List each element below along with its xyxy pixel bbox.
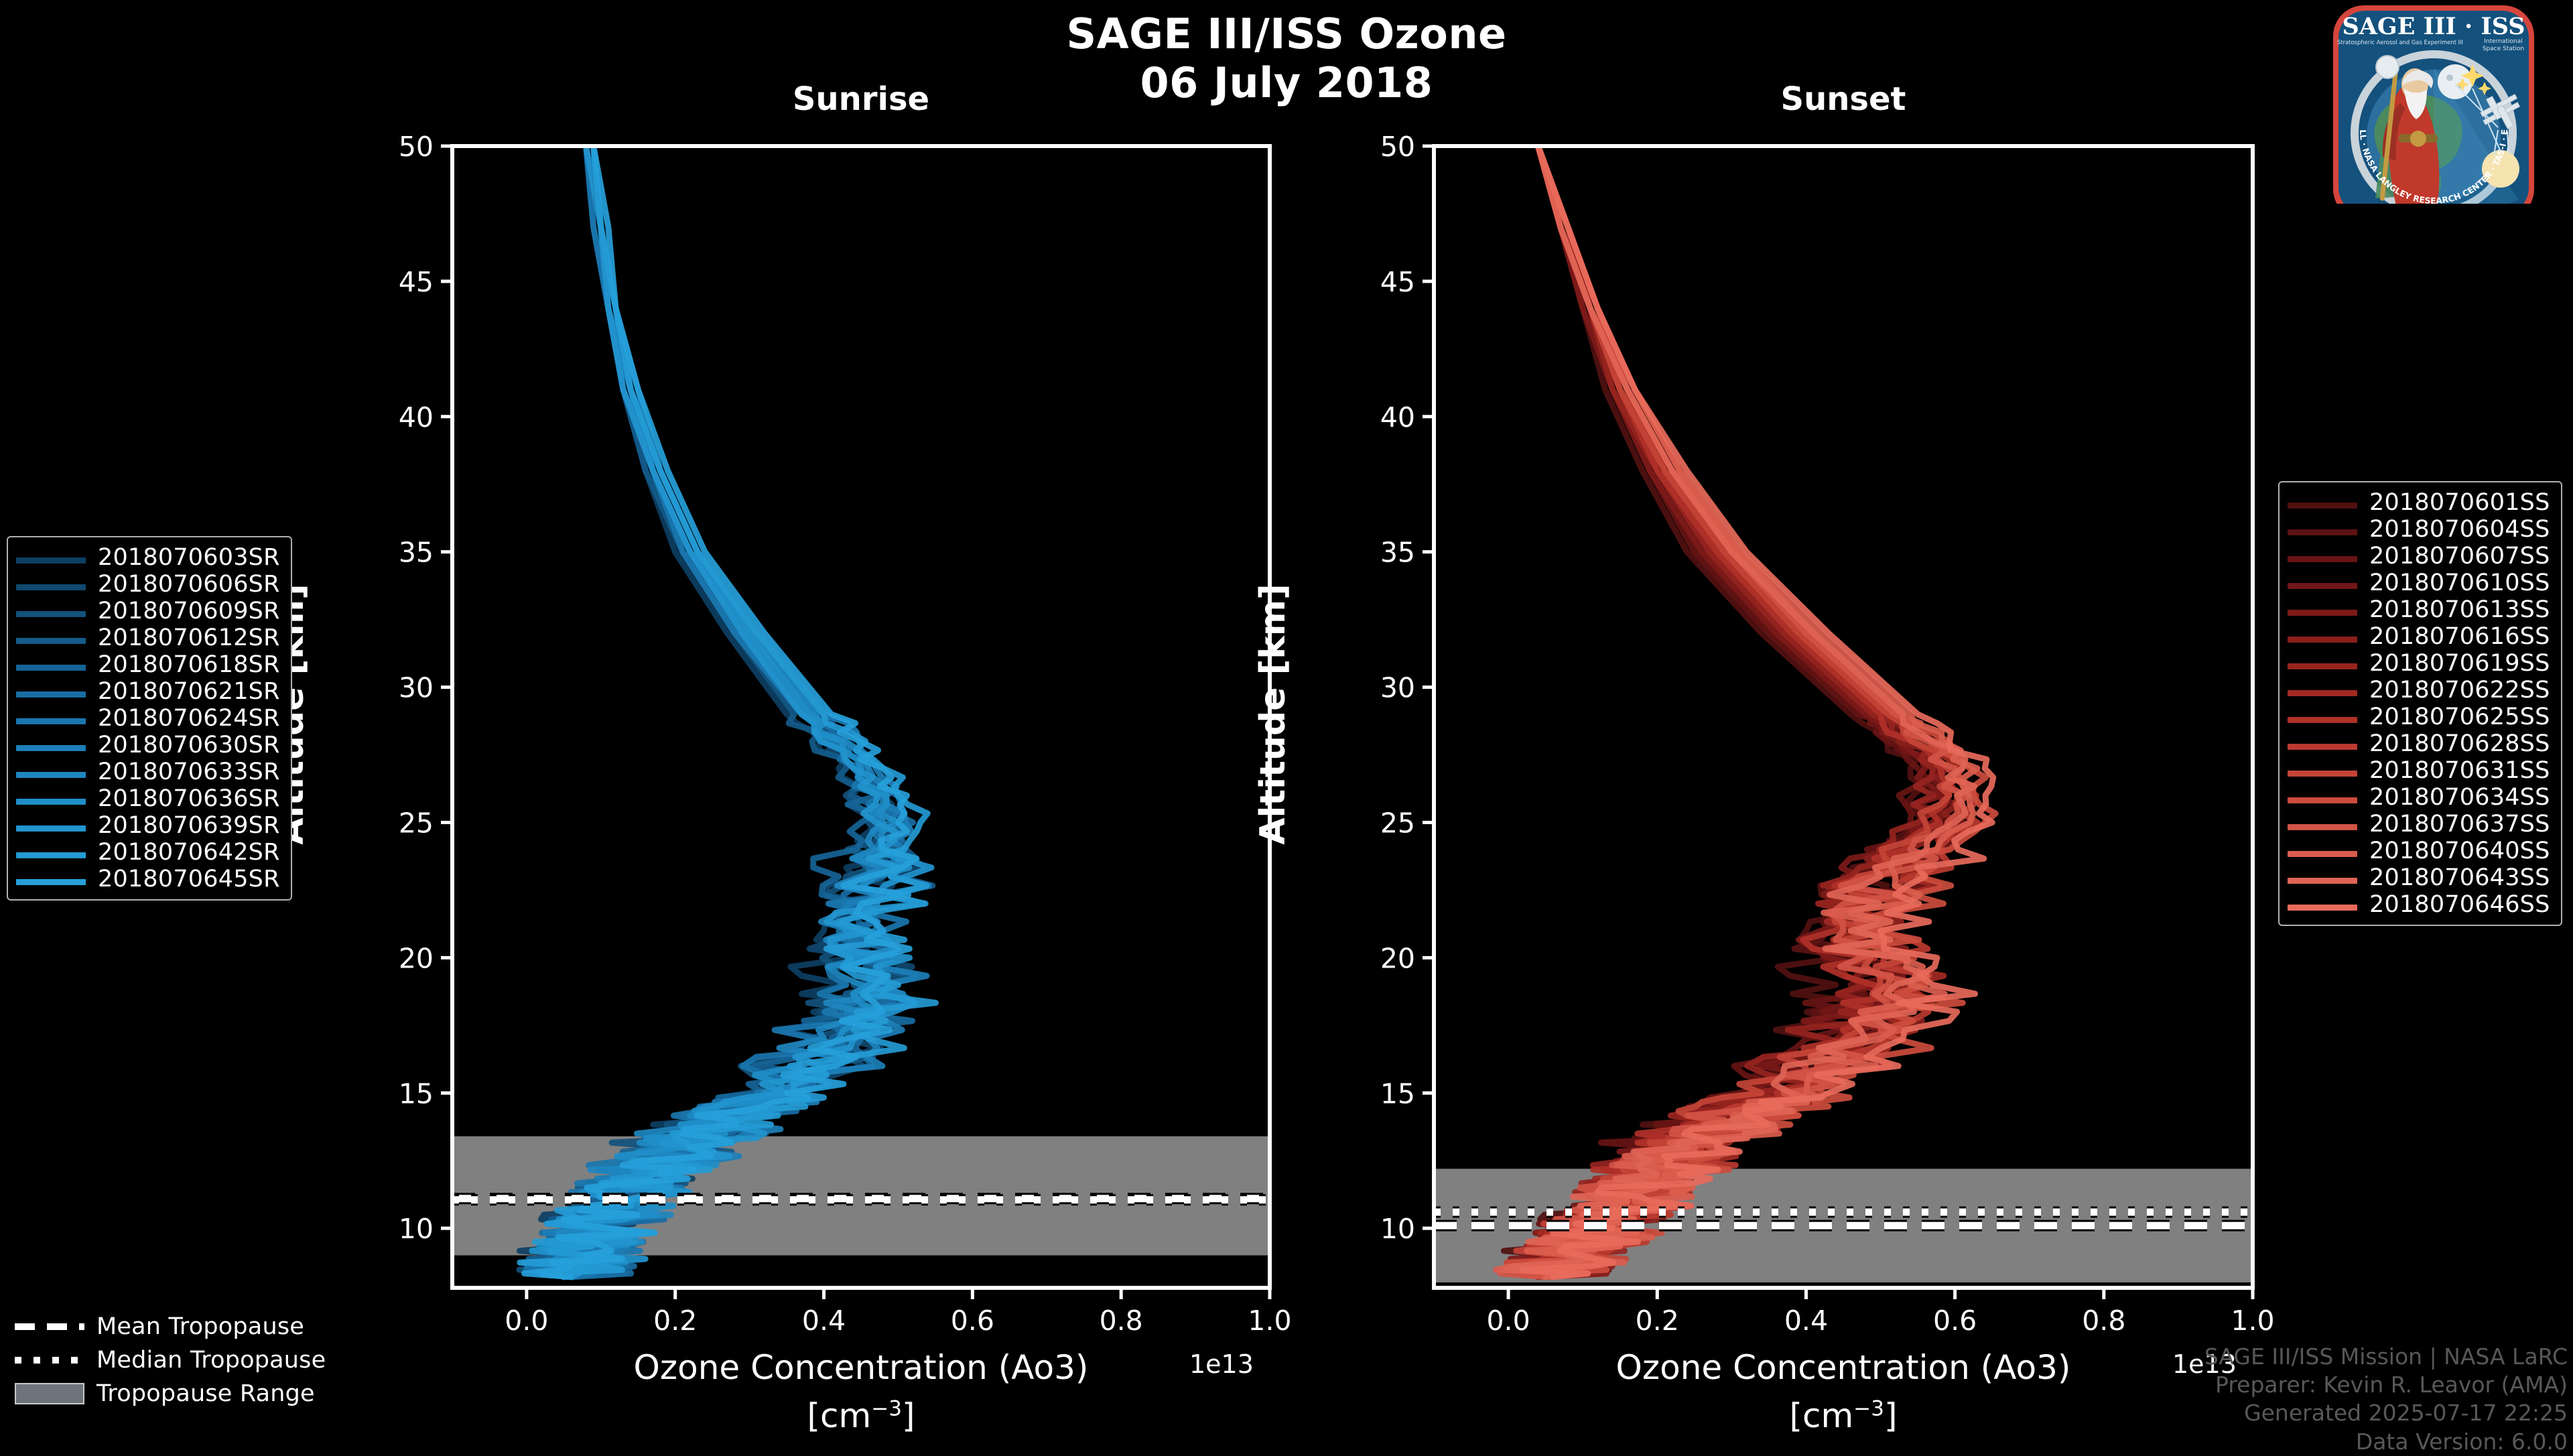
x-tick-label: 0.6: [1933, 1305, 1977, 1337]
ozone-profile-line: [520, 146, 936, 1277]
legend-tropopause[interactable]: Mean TropopauseMedian TropopauseTropopau…: [15, 1310, 326, 1410]
ozone-profile-line: [525, 146, 917, 1277]
y-tick-label: 25: [399, 807, 434, 839]
credits-block: SAGE III/ISS Mission | NASA LaRC Prepare…: [2204, 1343, 2568, 1456]
legend-item-label: 2018070613SS: [2369, 596, 2550, 623]
ozone-profile-line: [1535, 146, 1963, 1277]
legend-item-2018070625ss[interactable]: 2018070625SS: [2288, 704, 2550, 730]
x-tick-label: 0.6: [951, 1305, 994, 1337]
legend-item-2018070603sr[interactable]: 2018070603SR: [16, 544, 280, 571]
x-axis-unit: [cm−3]: [452, 1396, 1270, 1435]
legend-item-2018070628ss[interactable]: 2018070628SS: [2288, 730, 2550, 757]
x-tick-label: 0.8: [2082, 1305, 2125, 1337]
panel-title-sunset: Sunset: [1434, 80, 2253, 118]
logo-subtitle-left: Stratospheric Aerosol and Gas Experiment…: [2337, 39, 2463, 46]
y-tick-label: 50: [1380, 131, 1415, 163]
x-tick-label: 0.2: [1636, 1305, 1679, 1337]
x-tick-label: 0.8: [1100, 1305, 1143, 1337]
y-tick-label: 20: [1380, 942, 1415, 974]
y-axis-title-sunset: Altitude [km]: [1253, 500, 1293, 929]
y-tick-label: 20: [399, 942, 434, 974]
legend-item-label: 2018070604SS: [2369, 516, 2550, 543]
ozone-profile-line: [525, 146, 909, 1277]
legend-item-2018070646ss[interactable]: 2018070646SS: [2288, 891, 2550, 918]
legend-item-label: 2018070643SS: [2369, 864, 2550, 891]
legend-item-label: 2018070631SS: [2369, 757, 2550, 784]
x-axis-unit-sup: −3: [1853, 1396, 1884, 1420]
axis-frame: [452, 146, 1270, 1288]
tropopause-range-swatch: [15, 1383, 84, 1404]
credits-generated: Generated 2025-07-17 22:25: [2204, 1399, 2568, 1427]
legend-item-2018070643ss[interactable]: 2018070643SS: [2288, 864, 2550, 891]
y-tick-label: 35: [399, 537, 434, 569]
legend-item-band[interactable]: Tropopause Range: [15, 1377, 326, 1410]
x-axis-title-line1: Ozone Concentration (Ao3): [452, 1348, 1270, 1387]
y-tick-label: 40: [1380, 401, 1415, 434]
ozone-profile-line: [1508, 146, 1971, 1277]
x-tick-label: 0.2: [653, 1305, 697, 1337]
x-axis-unit-pre: [cm: [807, 1396, 872, 1435]
legend-item-dashed[interactable]: Mean Tropopause: [15, 1310, 326, 1343]
credits-mission: SAGE III/ISS Mission | NASA LaRC: [2204, 1343, 2568, 1371]
ozone-profile-line: [520, 146, 893, 1277]
legend-item-label: 2018070610SS: [2369, 570, 2550, 596]
mission-patch-svg: SAGE III · ISS Stratospheric Aerosol and…: [2300, 3, 2568, 204]
legend-item-2018070621sr[interactable]: 2018070621SR: [16, 678, 280, 705]
legend-item-2018070642sr[interactable]: 2018070642SR: [16, 839, 280, 866]
ozone-profile-line: [526, 146, 913, 1277]
axis-frame: [1434, 146, 2253, 1288]
legend-item-2018070618sr[interactable]: 2018070618SR: [16, 651, 280, 678]
ozone-profile-line: [529, 146, 898, 1277]
legend-item-2018070637ss[interactable]: 2018070637SS: [2288, 811, 2550, 838]
y-tick-label: 30: [399, 672, 434, 704]
legend-item-label: 2018070630SR: [98, 732, 280, 758]
legend-item-2018070619ss[interactable]: 2018070619SS: [2288, 650, 2550, 677]
ozone-profile-line: [546, 146, 933, 1277]
tropopause-range-band: [452, 1136, 1270, 1256]
ozone-profile-line: [1528, 146, 1949, 1277]
ozone-profile-line: [535, 146, 910, 1277]
legend-item-2018070610ss[interactable]: 2018070610SS: [2288, 570, 2550, 596]
ozone-profile-line: [519, 146, 903, 1277]
y-tick-label: 45: [1380, 266, 1415, 298]
legend-item-2018070616ss[interactable]: 2018070616SS: [2288, 623, 2550, 650]
legend-item-2018070634ss[interactable]: 2018070634SS: [2288, 784, 2550, 811]
legend-item-2018070640ss[interactable]: 2018070640SS: [2288, 838, 2550, 864]
y-tick-label: 10: [1380, 1213, 1415, 1245]
legend-item-2018070606sr[interactable]: 2018070606SR: [16, 571, 280, 598]
legend-item-2018070612sr[interactable]: 2018070612SR: [16, 624, 280, 651]
legend-item-label: Tropopause Range: [96, 1380, 315, 1407]
legend-item-2018070630sr[interactable]: 2018070630SR: [16, 732, 280, 758]
legend-item-2018070624sr[interactable]: 2018070624SR: [16, 705, 280, 732]
x-tick-label: 0.4: [1784, 1305, 1828, 1337]
x-tick-label: 1.0: [2231, 1305, 2274, 1337]
legend-item-2018070645sr[interactable]: 2018070645SR: [16, 866, 280, 892]
tropopause-range-band: [1434, 1169, 2253, 1282]
ozone-profile-line: [1507, 146, 1934, 1277]
ozone-profile-line: [1510, 146, 1945, 1277]
legend-item-dotted[interactable]: Median Tropopause: [15, 1343, 326, 1377]
x-tick-label: 1.0: [1248, 1305, 1291, 1337]
legend-item-label: 2018070606SR: [98, 571, 280, 598]
legend-item-2018070613ss[interactable]: 2018070613SS: [2288, 596, 2550, 623]
ozone-profile-line: [1522, 146, 1993, 1277]
logo-subtitle-right-1: International: [2484, 38, 2522, 45]
x-axis-title-sunset: Ozone Concentration (Ao3) [cm−3]: [1434, 1348, 2253, 1435]
x-axis-title-sunrise: Ozone Concentration (Ao3) [cm−3]: [452, 1348, 1270, 1435]
legend-item-label: 2018070619SS: [2369, 650, 2550, 677]
legend-item-label: Median Tropopause: [96, 1347, 326, 1374]
legend-item-label: 2018070612SR: [98, 624, 280, 651]
legend-item-2018070639sr[interactable]: 2018070639SR: [16, 812, 280, 839]
y-tick-label: 35: [1380, 537, 1415, 569]
ozone-profile-line: [1518, 146, 1952, 1277]
legend-item-label: 2018070625SS: [2369, 704, 2550, 730]
y-tick-label: 50: [399, 131, 434, 163]
legend-item-label: 2018070621SR: [98, 678, 280, 705]
figure-title-line1: SAGE III/ISS Ozone: [0, 9, 2573, 58]
legend-item-label: 2018070634SS: [2369, 784, 2550, 811]
x-axis-unit-sup: −3: [871, 1396, 902, 1420]
legend-item-label: 2018070601SS: [2369, 489, 2550, 516]
ozone-profile-line: [1516, 146, 1959, 1277]
ozone-profile-line: [1506, 146, 1995, 1277]
legend-item-2018070607ss[interactable]: 2018070607SS: [2288, 543, 2550, 570]
legend-item-label: Mean Tropopause: [96, 1313, 304, 1340]
legend-item-2018070636sr[interactable]: 2018070636SR: [16, 785, 280, 812]
dashed-line-swatch: [15, 1323, 84, 1330]
legend-item-label: 2018070618SR: [98, 651, 280, 678]
x-tick-label: 0.0: [505, 1305, 548, 1337]
legend-item-label: 2018070609SR: [98, 598, 280, 624]
y-tick-label: 10: [399, 1213, 434, 1245]
ozone-profile-line: [1507, 146, 1977, 1277]
y-tick-label: 45: [399, 266, 434, 298]
legend-item-2018070609sr[interactable]: 2018070609SR: [16, 598, 280, 624]
x-tick-label: 0.4: [802, 1305, 846, 1337]
legend-item-label: 2018070642SR: [98, 839, 280, 866]
legend-item-label: 2018070639SR: [98, 812, 280, 839]
legend-item-label: 2018070633SR: [98, 758, 280, 785]
legend-item-2018070633sr[interactable]: 2018070633SR: [16, 758, 280, 785]
legend-item-label: 2018070645SR: [98, 866, 280, 892]
ozone-profile-line: [1500, 146, 1968, 1277]
ozone-profile-line: [524, 146, 929, 1277]
legend-item-2018070601ss[interactable]: 2018070601SS: [2288, 489, 2550, 516]
legend-item-2018070604ss[interactable]: 2018070604SS: [2288, 516, 2550, 543]
ozone-profile-line: [547, 146, 922, 1277]
panel-title-sunrise: Sunrise: [452, 80, 1270, 118]
legend-sunset-events[interactable]: 2018070601SS2018070604SS2018070607SS2018…: [2278, 481, 2562, 926]
ozone-profile-line: [532, 146, 931, 1277]
legend-item-label: 2018070622SS: [2369, 677, 2550, 704]
ozone-profile-line: [1504, 146, 1925, 1277]
legend-item-label: 2018070607SS: [2369, 543, 2550, 570]
x-axis-unit: [cm−3]: [1434, 1396, 2253, 1435]
x-axis-exponent-sunrise: 1e13: [1189, 1349, 1254, 1379]
logo-subtitle-right-2: Space Station: [2483, 46, 2524, 52]
y-tick-label: 25: [1380, 807, 1415, 839]
legend-item-label: 2018070640SS: [2369, 838, 2550, 864]
x-axis-unit-post: ]: [1884, 1396, 1898, 1435]
legend-item-2018070622ss[interactable]: 2018070622SS: [2288, 677, 2550, 704]
ozone-profile-line: [1528, 146, 1977, 1277]
legend-item-label: 2018070616SS: [2369, 623, 2550, 650]
credits-data-version: Data Version: 6.0.0: [2204, 1428, 2568, 1456]
legend-item-label: 2018070603SR: [98, 544, 280, 571]
legend-item-label: 2018070628SS: [2369, 730, 2550, 757]
legend-sunrise-events[interactable]: 2018070603SR2018070606SR2018070609SR2018…: [7, 536, 292, 901]
y-tick-label: 15: [399, 1077, 434, 1110]
logo-title: SAGE III · ISS: [2342, 13, 2525, 40]
sage-iii-iss-logo: SAGE III · ISS Stratospheric Aerosol and…: [2300, 3, 2568, 204]
legend-item-label: 2018070646SS: [2369, 891, 2550, 918]
legend-item-2018070631ss[interactable]: 2018070631SS: [2288, 757, 2550, 784]
y-tick-label: 40: [399, 401, 434, 434]
legend-item-label: 2018070624SR: [98, 705, 280, 732]
dotted-line-swatch: [15, 1357, 84, 1364]
credits-preparer: Preparer: Kevin R. Leavor (AMA): [2204, 1371, 2568, 1399]
legend-item-label: 2018070636SR: [98, 785, 280, 812]
ozone-profile-line: [1496, 146, 1926, 1277]
x-axis-unit-post: ]: [902, 1396, 915, 1435]
y-tick-label: 15: [1380, 1077, 1415, 1110]
y-tick-label: 30: [1380, 672, 1415, 704]
legend-item-label: 2018070637SS: [2369, 811, 2550, 838]
x-tick-label: 0.0: [1486, 1305, 1530, 1337]
ozone-profile-line: [1496, 146, 1975, 1277]
x-axis-unit-pre: [cm: [1790, 1396, 1854, 1435]
ozone-profile-line: [539, 146, 903, 1277]
x-axis-title-line1: Ozone Concentration (Ao3): [1434, 1348, 2253, 1387]
ozone-profile-line: [1502, 146, 1961, 1277]
